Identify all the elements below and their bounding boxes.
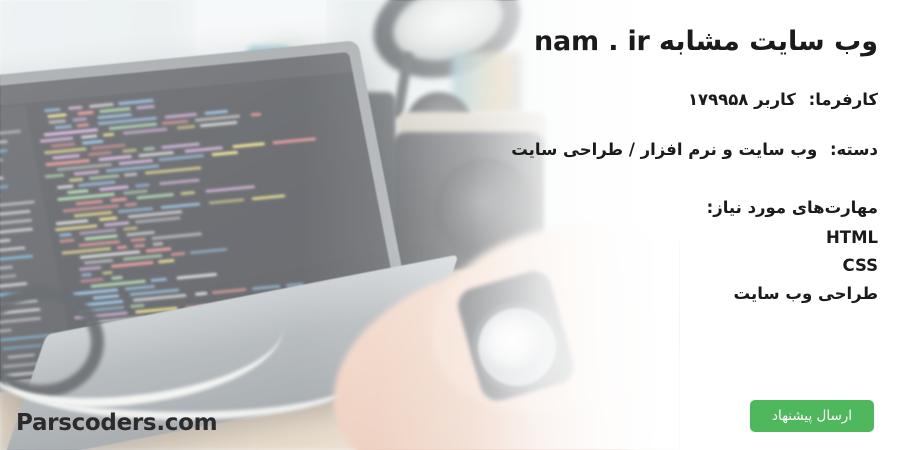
employer-row: کارفرما: کاربر ۱۷۹۹۵۸ xyxy=(18,90,878,109)
skill-item: طراحی وب سایت xyxy=(18,280,878,308)
skill-item: HTML xyxy=(18,224,878,252)
site-brand-logo: Parscoders.com xyxy=(16,410,217,436)
skills-list: HTMLCSSطراحی وب سایت xyxy=(18,224,878,308)
project-title-text: وب سایت مشابه xyxy=(659,26,878,57)
category-value: وب سایت و نرم افزار / طراحی سایت xyxy=(511,140,817,159)
project-banner-card: وب سایت مشابه nam . ir کارفرما: کاربر ۱۷… xyxy=(0,0,900,450)
employer-label: کارفرما: xyxy=(809,90,878,109)
category-label: دسته: xyxy=(830,140,878,159)
skills-heading: مهارت‌های مورد نیاز: xyxy=(18,194,878,222)
skills-section: مهارت‌های مورد نیاز: HTMLCSSطراحی وب سای… xyxy=(18,194,878,308)
project-info-panel: وب سایت مشابه nam . ir کارفرما: کاربر ۱۷… xyxy=(0,0,900,450)
project-title-domain: nam . ir xyxy=(534,26,650,57)
category-row: دسته: وب سایت و نرم افزار / طراحی سایت xyxy=(18,140,878,159)
skill-item: CSS xyxy=(18,252,878,280)
employer-value: کاربر ۱۷۹۹۵۸ xyxy=(688,90,796,109)
submit-proposal-button[interactable]: ارسال پیشنهاد xyxy=(750,400,874,432)
project-title: وب سایت مشابه nam . ir xyxy=(18,26,878,57)
